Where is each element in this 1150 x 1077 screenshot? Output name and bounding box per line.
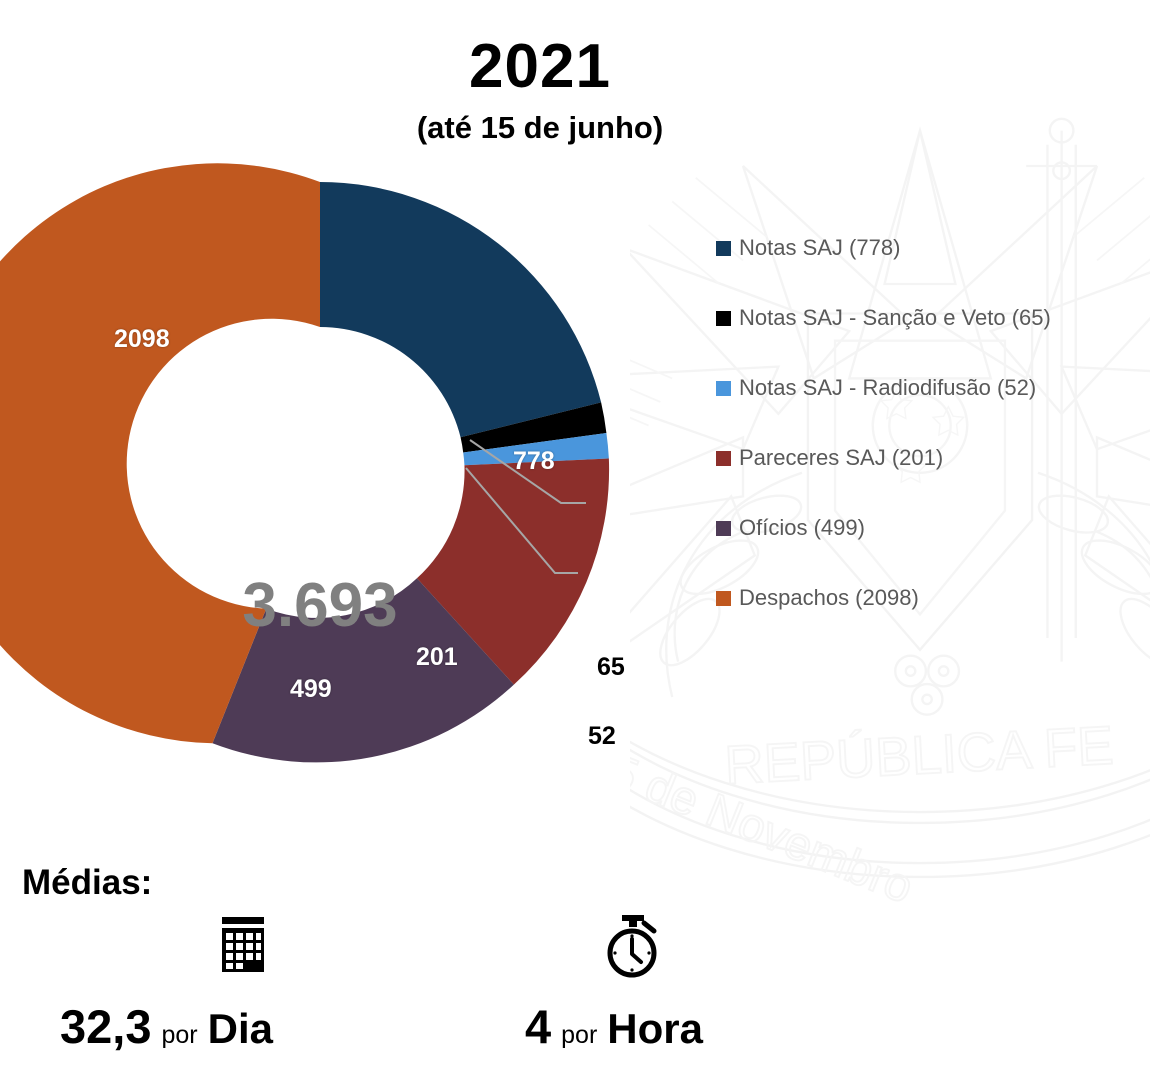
average-per-hour-line: 4 por Hora <box>525 1003 703 1050</box>
calendar-icon-svg <box>218 915 268 975</box>
average-per-hour-value: 4 <box>525 1003 551 1050</box>
svg-text:REPÚBLICA FE: REPÚBLICA FE <box>723 715 1115 796</box>
legend-item[interactable]: Notas SAJ - Radiodifusão (52) <box>716 376 1146 446</box>
chart-title-block: 2021 (até 15 de junho) <box>0 36 1150 143</box>
chart-title-year: 2021 <box>0 36 1150 98</box>
legend-swatch-oficios <box>716 521 731 536</box>
callout-value-label: 65 <box>597 653 625 682</box>
donut-chart: 778 2098 499 201 65 52 3.693 <box>0 150 700 800</box>
slice-value-label: 778 <box>513 447 555 476</box>
donut-center-total: 3.693 <box>160 570 480 641</box>
legend-item[interactable]: Notas SAJ (778) <box>716 236 1146 306</box>
legend-swatch-radiodifusao <box>716 381 731 396</box>
slice-value-label: 499 <box>290 675 332 704</box>
average-per-day-line: 32,3 por Dia <box>60 1003 273 1050</box>
average-per-day-value: 32,3 <box>60 1003 151 1050</box>
slice-value-label: 201 <box>416 643 458 672</box>
average-per-hour-unit: Hora <box>607 1008 703 1050</box>
slice-value-label: 2098 <box>114 325 170 354</box>
legend-label: Notas SAJ - Radiodifusão (52) <box>739 376 1036 400</box>
averages-section: Médias: <box>22 865 152 900</box>
legend-swatch-pareceres <box>716 451 731 466</box>
legend-label: Despachos (2098) <box>739 586 919 610</box>
calendar-icon <box>218 915 268 980</box>
legend-label: Notas SAJ (778) <box>739 236 900 260</box>
averages-heading: Médias: <box>22 865 152 900</box>
average-per-hour-per: por <box>561 1023 597 1048</box>
legend-label: Notas SAJ - Sanção e Veto (65) <box>739 306 1051 330</box>
legend-item[interactable]: Ofícios (499) <box>716 516 1146 586</box>
legend-swatch-despachos <box>716 591 731 606</box>
legend-label: Pareceres SAJ (201) <box>739 446 943 470</box>
average-per-day-unit: Dia <box>208 1008 273 1050</box>
stopwatch-icon <box>600 913 664 984</box>
legend-item[interactable]: Notas SAJ - Sanção e Veto (65) <box>716 306 1146 376</box>
donut-chart-svg <box>0 150 700 800</box>
stopwatch-icon-svg <box>600 913 664 979</box>
legend-label: Ofícios (499) <box>739 516 865 540</box>
legend-item[interactable]: Pareceres SAJ (201) <box>716 446 1146 516</box>
callout-value-label: 52 <box>588 722 616 751</box>
slice-notas-saj[interactable] <box>320 182 601 437</box>
legend-item[interactable]: Despachos (2098) <box>716 586 1146 656</box>
legend-swatch-notas-saj <box>716 241 731 256</box>
average-per-day-per: por <box>161 1023 197 1048</box>
legend-swatch-sancao-veto <box>716 311 731 326</box>
chart-subtitle: (até 15 de junho) <box>0 112 1150 143</box>
chart-legend: Notas SAJ (778) Notas SAJ - Sanção e Vet… <box>716 236 1146 656</box>
